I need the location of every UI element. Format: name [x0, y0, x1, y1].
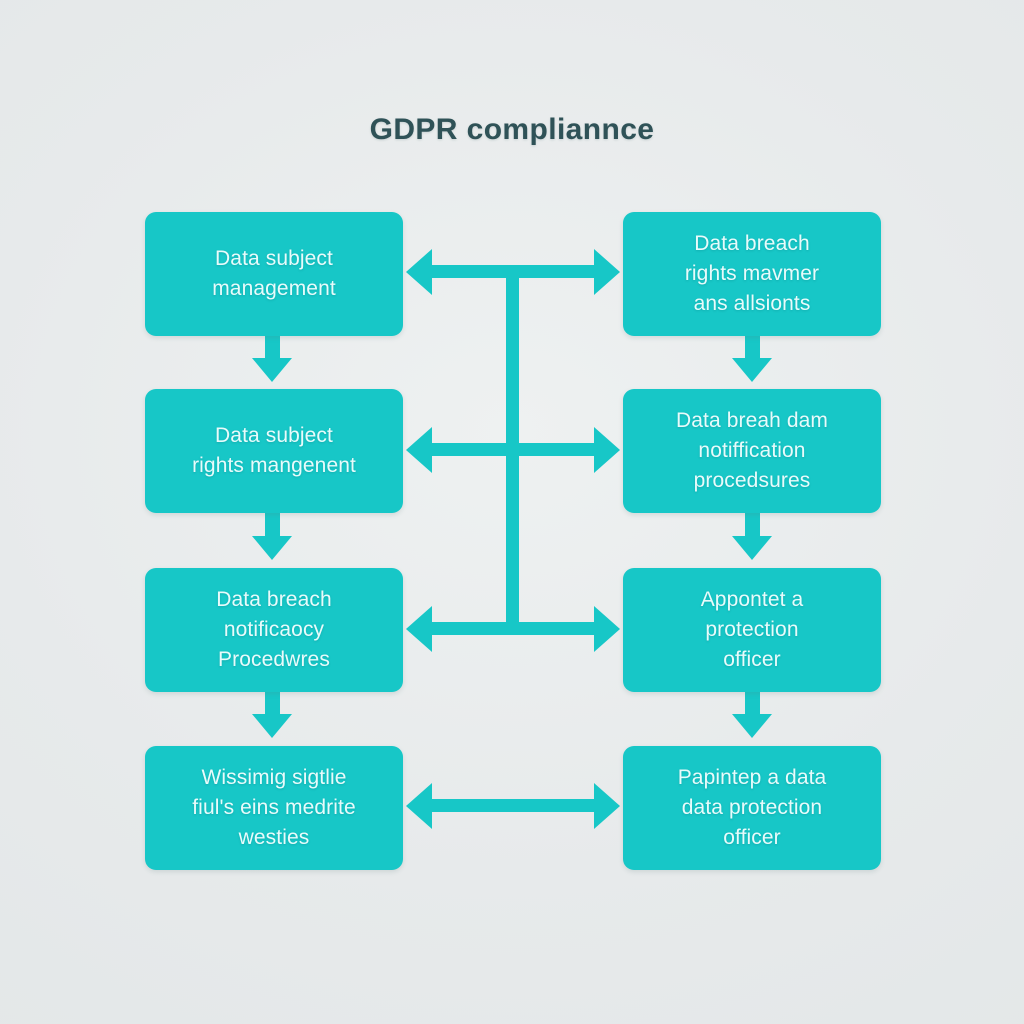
node-right-1[interactable]: Data breach rights mavmer ans allsionts — [623, 212, 881, 336]
node-label: Wissimig sigtlie fiul's eins medrite wes… — [159, 763, 389, 853]
node-label: Data breach notificaocy Procedwres — [159, 585, 389, 675]
node-label: Data subject management — [159, 244, 389, 304]
node-label: Data subject rights mangenent — [159, 421, 389, 481]
arrow-head-down-icon — [732, 536, 772, 560]
arrow-head-down-icon — [732, 714, 772, 738]
arrow-head-down-icon — [252, 536, 292, 560]
node-left-1[interactable]: Data subject management — [145, 212, 403, 336]
node-label: Appontet a protection officer — [637, 585, 867, 675]
arrow-head-right-icon — [594, 249, 620, 295]
node-line: notiffication — [637, 436, 867, 466]
page-title: GDPR compliannce — [0, 113, 1024, 147]
node-line: fiul's eins medrite — [159, 793, 389, 823]
node-right-2[interactable]: Data breah dam notiffication procedsures — [623, 389, 881, 513]
node-label: Data breah dam notiffication procedsures — [637, 406, 867, 496]
arrow-head-right-icon — [594, 783, 620, 829]
arrow-head-down-icon — [252, 358, 292, 382]
arrow-shaft — [431, 622, 595, 635]
node-left-2[interactable]: Data subject rights mangenent — [145, 389, 403, 513]
arrow-shaft — [431, 443, 595, 456]
diagram-canvas: GDPR compliannce — [0, 0, 1024, 1024]
node-line: westies — [159, 823, 389, 853]
node-line: Wissimig sigtlie — [159, 763, 389, 793]
node-right-4[interactable]: Papintep a data data protection officer — [623, 746, 881, 870]
arrow-head-left-icon — [406, 783, 432, 829]
node-line: rights mavmer — [637, 259, 867, 289]
node-line: Data subject — [159, 421, 389, 451]
node-line: officer — [637, 645, 867, 675]
node-left-3[interactable]: Data breach notificaocy Procedwres — [145, 568, 403, 692]
arrow-head-down-icon — [732, 358, 772, 382]
node-line: ans allsionts — [637, 289, 867, 319]
node-line: officer — [637, 823, 867, 853]
node-left-4[interactable]: Wissimig sigtlie fiul's eins medrite wes… — [145, 746, 403, 870]
arrow-head-down-icon — [252, 714, 292, 738]
node-line: management — [159, 274, 389, 304]
node-label: Papintep a data data protection officer — [637, 763, 867, 853]
node-line: Appontet a — [637, 585, 867, 615]
node-line: procedsures — [637, 466, 867, 496]
arrow-shaft — [431, 265, 595, 278]
node-line: Data breach — [159, 585, 389, 615]
node-line: Procedwres — [159, 645, 389, 675]
node-line: protection — [637, 615, 867, 645]
arrow-head-left-icon — [406, 606, 432, 652]
node-right-3[interactable]: Appontet a protection officer — [623, 568, 881, 692]
node-line: rights mangenent — [159, 451, 389, 481]
node-line: Data breah dam — [637, 406, 867, 436]
node-label: Data breach rights mavmer ans allsionts — [637, 229, 867, 319]
arrow-head-right-icon — [594, 427, 620, 473]
node-line: Data breach — [637, 229, 867, 259]
node-line: Data subject — [159, 244, 389, 274]
node-line: Papintep a data — [637, 763, 867, 793]
arrow-shaft — [431, 799, 595, 812]
arrow-head-left-icon — [406, 249, 432, 295]
arrow-head-right-icon — [594, 606, 620, 652]
arrow-head-left-icon — [406, 427, 432, 473]
node-line: data protection — [637, 793, 867, 823]
node-line: notificaocy — [159, 615, 389, 645]
